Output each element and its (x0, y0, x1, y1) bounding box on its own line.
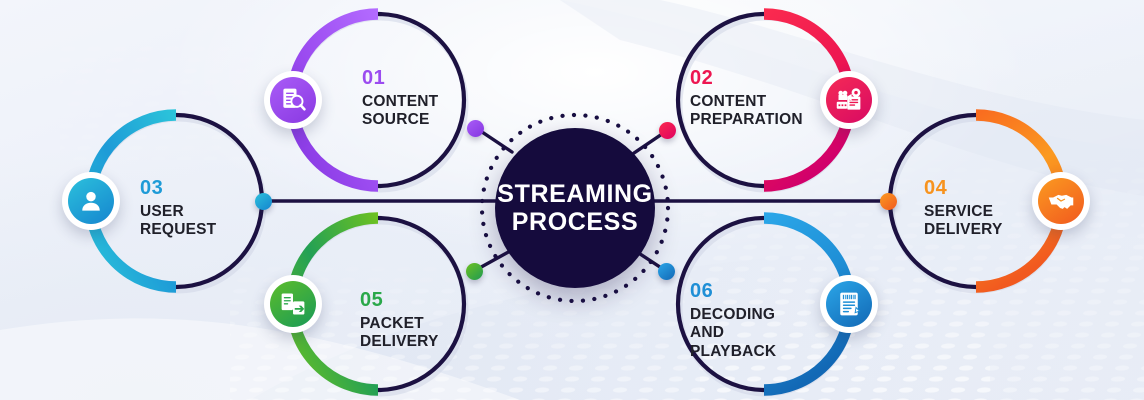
node-03-label-line2: REQUEST (140, 221, 216, 239)
node-05-number: 05 (360, 290, 439, 310)
node-06-connector-dot (658, 263, 675, 280)
node-04-number: 04 (924, 178, 1003, 198)
node-03-text: 03 USER REQUEST (140, 178, 216, 240)
video-production-icon (835, 86, 863, 114)
node-02-number: 02 (690, 68, 803, 88)
user-icon (77, 187, 105, 215)
node-05-icon-badge[interactable] (264, 275, 322, 333)
node-05-text: 05 PACKET DELIVERY (360, 290, 439, 352)
node-02-connector-dot (659, 122, 676, 139)
node-06-label-line2: AND (690, 324, 776, 342)
node-01-label-line1: CONTENT (362, 93, 438, 111)
node-01-number: 01 (362, 68, 438, 88)
node-06-decoding-and-playback[interactable]: 06 DECODING AND PLAYBACK (668, 208, 860, 400)
node-05-packet-delivery[interactable]: 05 PACKET DELIVERY (282, 208, 474, 400)
node-04-label-line2: DELIVERY (924, 221, 1003, 239)
node-05-label-line2: DELIVERY (360, 333, 439, 351)
node-04-service-delivery[interactable]: 04 SERVICE DELIVERY (880, 105, 1072, 297)
node-02-label-line2: PREPARATION (690, 111, 803, 129)
node-06-label-line3: PLAYBACK (690, 343, 776, 361)
node-06-number: 06 (690, 281, 776, 301)
handshake-icon (1047, 187, 1075, 215)
node-04-icon-badge[interactable] (1032, 172, 1090, 230)
node-03-connector-dot (255, 193, 272, 210)
node-05-label-line1: PACKET (360, 315, 439, 333)
node-05-connector-dot (466, 263, 483, 280)
node-03-user-request[interactable]: 03 USER REQUEST (80, 105, 272, 297)
document-search-icon (279, 86, 307, 114)
node-01-text: 01 CONTENT SOURCE (362, 68, 438, 130)
center-title-line2: PROCESS (512, 208, 638, 236)
node-06-text: 06 DECODING AND PLAYBACK (690, 281, 776, 361)
node-02-content-preparation[interactable]: 02 CONTENT PREPARATION (668, 4, 860, 196)
node-06-icon-badge[interactable] (820, 275, 878, 333)
node-01-label-line2: SOURCE (362, 111, 438, 129)
node-02-icon-badge[interactable] (820, 71, 878, 129)
node-04-text: 04 SERVICE DELIVERY (924, 178, 1003, 240)
node-06-label-line1: DECODING (690, 306, 776, 324)
file-transfer-icon (279, 290, 307, 318)
node-01-content-source[interactable]: 01 CONTENT SOURCE (282, 4, 474, 196)
node-02-label-line1: CONTENT (690, 93, 803, 111)
node-01-connector-dot (467, 120, 484, 137)
center-title-line1: STREAMING (497, 180, 652, 208)
node-03-number: 03 (140, 178, 216, 198)
node-04-label-line1: SERVICE (924, 203, 1003, 221)
decoding-document-icon (835, 290, 863, 318)
infographic-canvas: STREAMING PROCESS (0, 0, 1144, 400)
node-02-text: 02 CONTENT PREPARATION (690, 68, 803, 130)
node-03-label-line1: USER (140, 203, 216, 221)
node-03-icon-badge[interactable] (62, 172, 120, 230)
node-01-icon-badge[interactable] (264, 71, 322, 129)
center-hub: STREAMING PROCESS (495, 128, 655, 288)
node-04-connector-dot (880, 193, 897, 210)
